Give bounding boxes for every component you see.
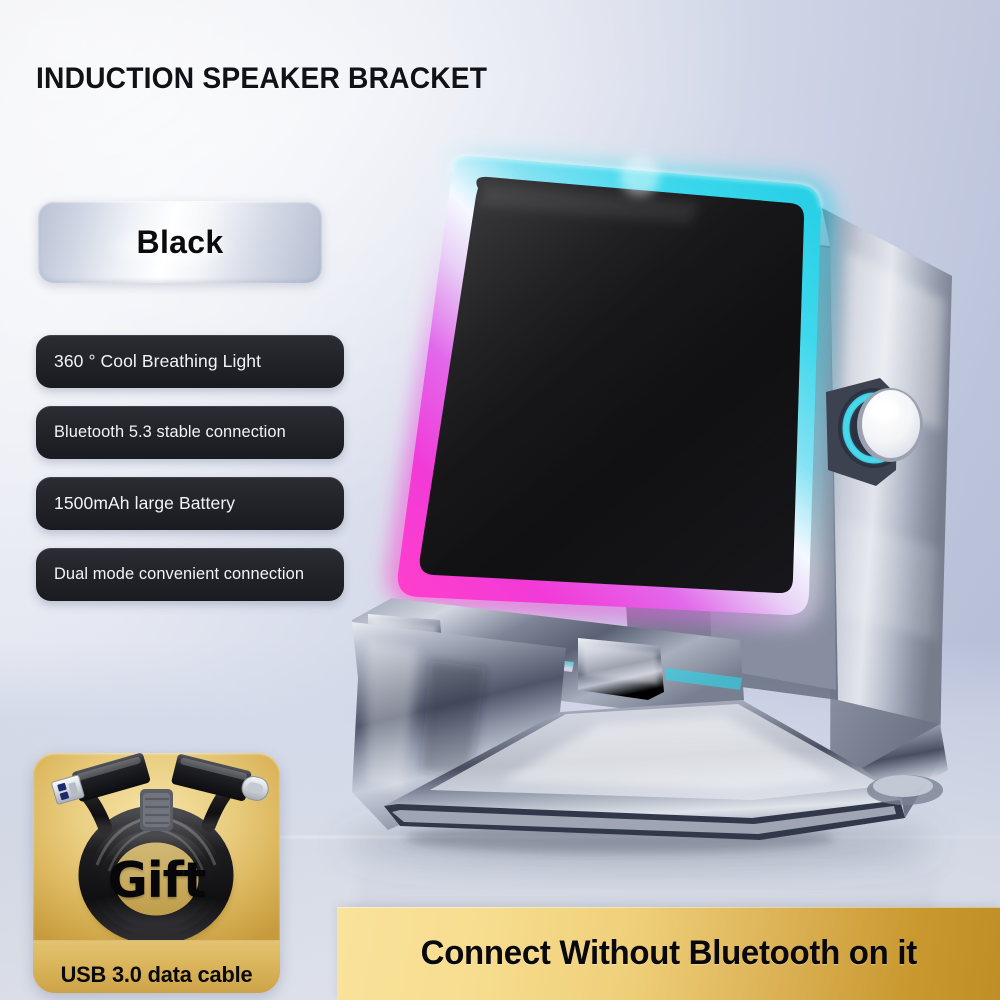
feature-pill-dual-mode: Dual mode convenient connection (36, 548, 344, 601)
color-variant-badge[interactable]: Black (38, 201, 322, 283)
feature-label: Bluetooth 5.3 stable connection (36, 423, 286, 442)
bottom-banner: Connect Without Bluetooth on it (337, 907, 1000, 1000)
feature-pill-bluetooth: Bluetooth 5.3 stable connection (36, 406, 344, 459)
page-title: INDUCTION SPEAKER BRACKET (36, 62, 487, 96)
feature-pill-breathing-light: 360 ° Cool Breathing Light (36, 335, 344, 388)
gift-caption: USB 3.0 data cable (37, 962, 277, 988)
feature-label: 1500mAh large Battery (36, 493, 235, 514)
bottom-banner-label: Connect Without Bluetooth on it (420, 934, 916, 973)
gift-overlay-label: Gift (33, 856, 280, 905)
product-marketing-image: INDUCTION SPEAKER BRACKET Black 360 ° Co… (0, 0, 1000, 1000)
gift-badge: Gift USB 3.0 data cable (33, 753, 280, 993)
color-variant-label: Black (137, 224, 224, 261)
feature-list: 360 ° Cool Breathing Light Bluetooth 5.3… (36, 335, 344, 619)
feature-label: 360 ° Cool Breathing Light (36, 351, 261, 372)
feature-label: Dual mode convenient connection (36, 565, 304, 584)
feature-pill-battery: 1500mAh large Battery (36, 477, 344, 530)
